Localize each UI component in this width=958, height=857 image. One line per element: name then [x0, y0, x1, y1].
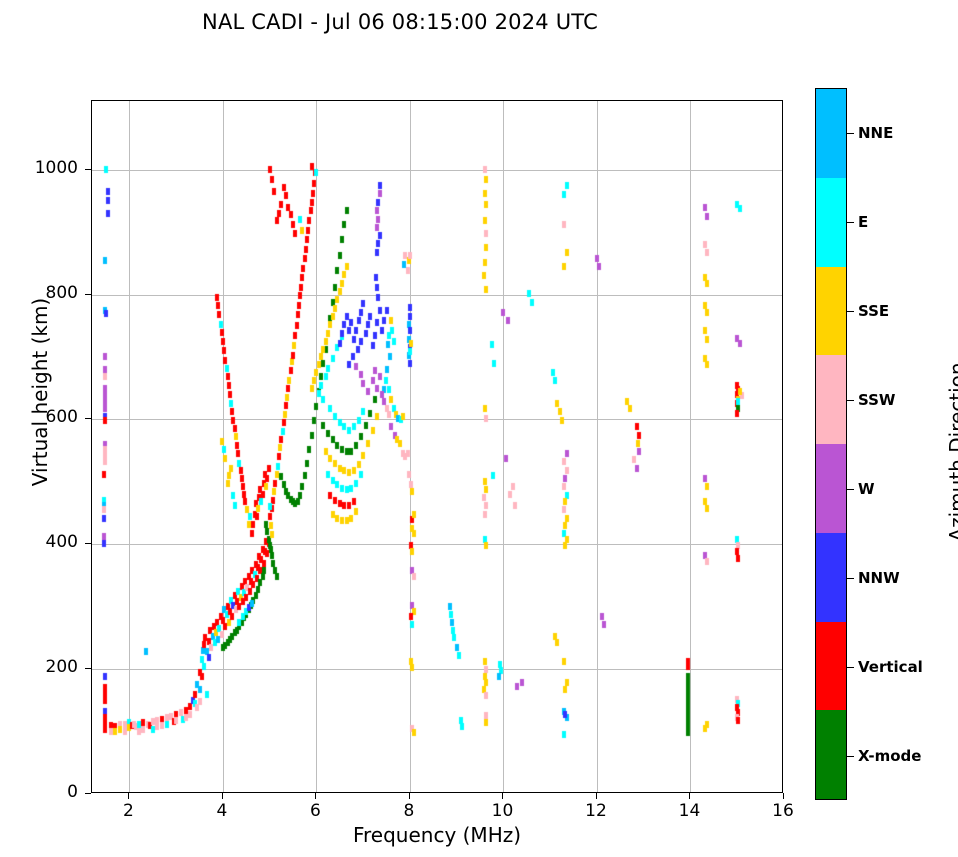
colorbar-tick [847, 133, 854, 134]
colorbar-segment-w [816, 444, 846, 533]
x-tick-mark [596, 793, 597, 799]
plot-area [91, 100, 783, 793]
x-tick-label: 12 [566, 801, 626, 821]
colorbar-segment-nne [816, 89, 846, 178]
colorbar-label-ssw: SSW [858, 391, 895, 409]
x-tick-mark [409, 793, 410, 799]
colorbar-title: Azimuth Direction [945, 252, 958, 652]
x-tick-mark [128, 793, 129, 799]
x-tick-label: 6 [285, 801, 345, 821]
x-tick-label: 8 [379, 801, 439, 821]
colorbar-segment-ssw [816, 355, 846, 444]
y-tick-label: 0 [8, 782, 78, 802]
colorbar-label-w: W [858, 480, 875, 498]
colorbar-label-x-mode: X-mode [858, 747, 921, 765]
ionogram-figure: NAL CADI - Jul 06 08:15:00 2024 UTC 2468… [0, 0, 958, 857]
y-tick-mark [85, 543, 91, 544]
x-tick-label: 4 [192, 801, 252, 821]
x-tick-mark [502, 793, 503, 799]
y-tick-label: 1000 [8, 158, 78, 178]
colorbar-label-e: E [858, 213, 868, 231]
colorbar-segment-e [816, 178, 846, 267]
y-tick-mark [85, 418, 91, 419]
scatter-canvas [92, 101, 783, 793]
x-tick-label: 14 [659, 801, 719, 821]
colorbar-tick [847, 311, 854, 312]
colorbar-tick [847, 222, 854, 223]
colorbar-tick [847, 756, 854, 757]
y-tick-mark [85, 294, 91, 295]
colorbar-tick [847, 400, 854, 401]
x-tick-mark [315, 793, 316, 799]
y-tick-label: 200 [8, 657, 78, 677]
x-tick-label: 10 [472, 801, 532, 821]
colorbar-label-nnw: NNW [858, 569, 900, 587]
colorbar-tick [847, 489, 854, 490]
x-tick-mark [689, 793, 690, 799]
y-axis-title: Virtual height (km) [28, 192, 52, 592]
colorbar-segment-vertical [816, 622, 846, 711]
colorbar [815, 88, 847, 800]
x-tick-mark [222, 793, 223, 799]
colorbar-label-vertical: Vertical [858, 658, 923, 676]
x-tick-mark [783, 793, 784, 799]
colorbar-segment-x-mode [816, 710, 846, 799]
x-axis-title: Frequency (MHz) [91, 823, 783, 847]
x-tick-label: 16 [753, 801, 813, 821]
colorbar-tick [847, 667, 854, 668]
y-tick-mark [85, 169, 91, 170]
colorbar-segment-sse [816, 267, 846, 356]
figure-title: NAL CADI - Jul 06 08:15:00 2024 UTC [0, 10, 800, 34]
colorbar-label-sse: SSE [858, 302, 889, 320]
colorbar-segment-nnw [816, 533, 846, 622]
colorbar-label-nne: NNE [858, 124, 893, 142]
colorbar-tick [847, 578, 854, 579]
y-tick-mark [85, 793, 91, 794]
y-tick-mark [85, 668, 91, 669]
x-tick-label: 2 [98, 801, 158, 821]
